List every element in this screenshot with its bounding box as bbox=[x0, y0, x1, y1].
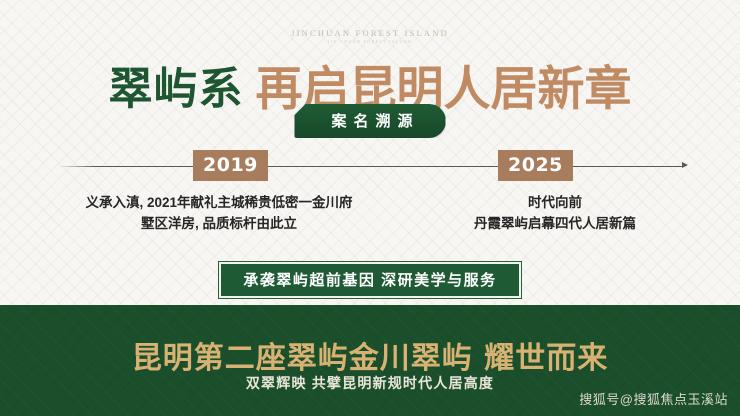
timeline-desc-2019-line2: 墅区洋房, 品质标杆由此立 bbox=[44, 213, 394, 234]
timeline-desc-2025-line2: 丹霞翠屿启幕四代人居新篇 bbox=[405, 213, 705, 234]
poster-canvas: JINCHUAN FOREST ISLAND JIN CHUAN FOREST … bbox=[0, 0, 740, 416]
timeline: 2019 ' 2025 ' bbox=[0, 150, 740, 180]
timeline-tick-2025: ' bbox=[553, 154, 555, 170]
timeline-desc-2025-line1: 时代向前 bbox=[405, 192, 705, 213]
timeline-rule bbox=[58, 166, 682, 167]
brand-mark: JINCHUAN FOREST ISLAND JIN CHUAN FOREST … bbox=[0, 28, 740, 44]
timeline-desc-2019: 义承入滇, 2021年献礼主城稀贵低密一金川府 墅区洋房, 品质标杆由此立 bbox=[44, 192, 394, 234]
brand-name-latin: JINCHUAN FOREST ISLAND bbox=[0, 28, 740, 38]
timeline-desc-2025: 时代向前 丹霞翠屿启幕四代人居新篇 bbox=[405, 192, 705, 234]
timeline-desc-2019-line1: 义承入滇, 2021年献礼主城稀贵低密一金川府 bbox=[44, 192, 394, 213]
timeline-year-2019: 2019 bbox=[193, 150, 268, 181]
statement-box-container: 承袭翠屿超前基因 深研美学与服务 bbox=[0, 262, 740, 298]
statement-box: 承袭翠屿超前基因 深研美学与服务 bbox=[219, 262, 520, 298]
section-banner: 案名溯源 bbox=[294, 104, 445, 138]
section-banner-container: 案名溯源 bbox=[0, 104, 740, 138]
timeline-year-2025: 2025 bbox=[498, 150, 573, 181]
brand-name-sub: JIN CHUAN FOREST ISLAND bbox=[0, 39, 740, 44]
timeline-tick-2019: ' bbox=[248, 154, 250, 170]
timeline-arrow-icon bbox=[682, 162, 688, 168]
bottom-panel: 昆明第二座翠屿金川翠屿 耀世而来 双翠辉映 共擘昆明新规时代人居高度 搜狐号@搜… bbox=[0, 305, 740, 416]
section-banner-label: 案名溯源 bbox=[324, 110, 419, 131]
bottom-panel-title: 昆明第二座翠屿金川翠屿 耀世而来 bbox=[0, 333, 740, 377]
watermark: 搜狐号@搜狐焦点玉溪站 bbox=[579, 389, 728, 408]
